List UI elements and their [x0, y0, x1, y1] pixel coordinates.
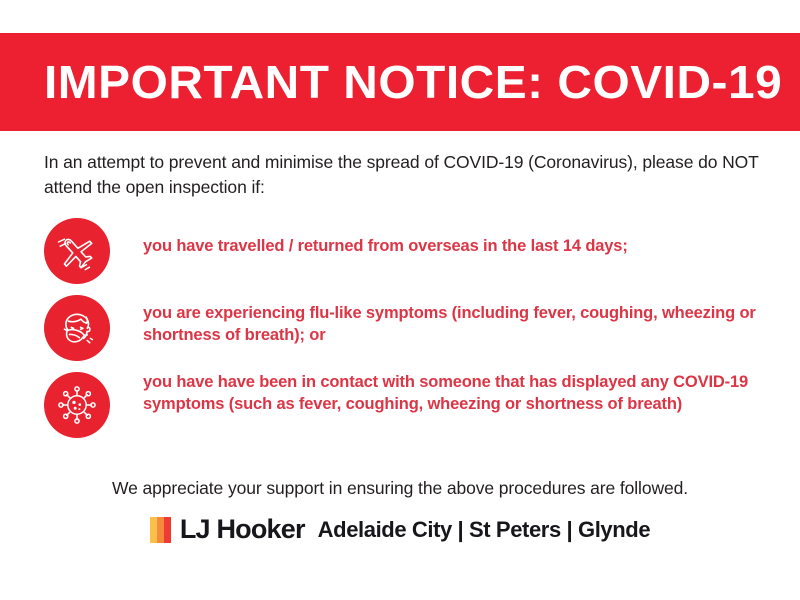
lj-hooker-wordmark: LJ Hooker	[180, 516, 305, 543]
coronavirus-icon	[44, 372, 110, 438]
logo-bar-orange	[157, 517, 164, 543]
logo-bar-red	[164, 517, 171, 543]
closing-statement: We appreciate your support in ensuring t…	[0, 478, 800, 499]
list-item-label: you are experiencing flu-like symptoms (…	[143, 295, 768, 347]
symptom-bullet-list: you have travelled / returned from overs…	[44, 218, 784, 449]
covid-notice-poster: IMPORTANT NOTICE: COVID-19 In an attempt…	[0, 0, 800, 600]
airplane-icon	[44, 218, 110, 284]
list-item: you have travelled / returned from overs…	[44, 218, 784, 284]
list-item: you are experiencing flu-like symptoms (…	[44, 295, 784, 361]
lj-hooker-logo-bars-icon	[150, 517, 171, 543]
logo-bar-yellow	[150, 517, 157, 543]
office-names: Adelaide City | St Peters | Glynde	[318, 519, 650, 541]
masked-face-icon	[44, 295, 110, 361]
notice-banner: IMPORTANT NOTICE: COVID-19	[0, 33, 800, 131]
list-item-label: you have have been in contact with someo…	[143, 372, 768, 416]
list-item-label: you have travelled / returned from overs…	[143, 218, 628, 258]
list-item: you have have been in contact with someo…	[44, 372, 784, 438]
page-title: IMPORTANT NOTICE: COVID-19	[44, 59, 782, 105]
intro-paragraph: In an attempt to prevent and minimise th…	[44, 150, 774, 201]
footer-branding: LJ Hooker Adelaide City | St Peters | Gl…	[0, 516, 800, 543]
